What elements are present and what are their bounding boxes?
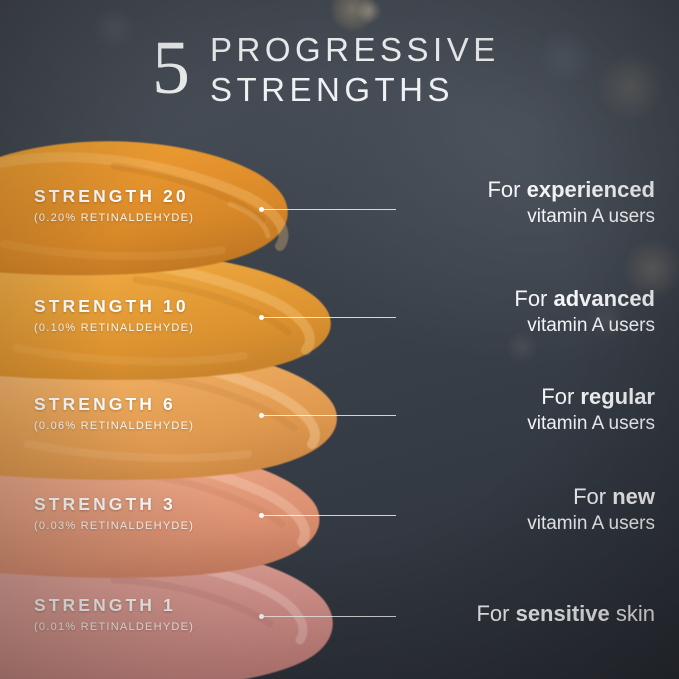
- infographic-image: 5 PROGRESSIVE STRENGTHS STRENGTH 20 (0.2…: [0, 0, 679, 679]
- vignette-overlay: [0, 0, 679, 679]
